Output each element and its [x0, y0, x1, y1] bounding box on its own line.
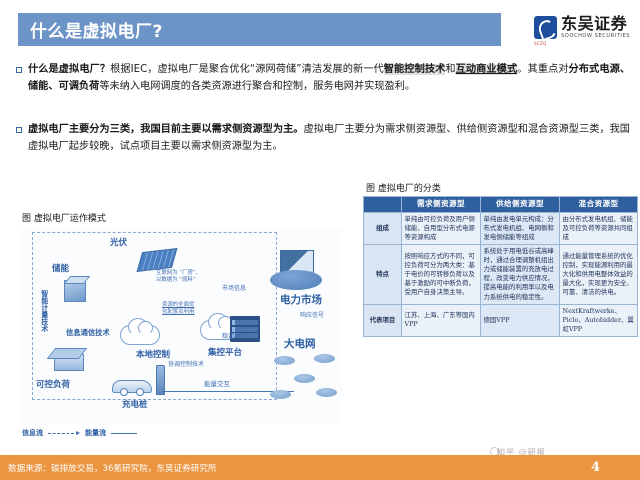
data-source-text: 数据来源：碳排放交易，36氪研究院，东吴证券研究所	[0, 462, 217, 474]
table-row: 特点 按照响应方式的不同，可控负荷可分为两大类：基于电价的可转移负荷以及基于激励…	[364, 245, 638, 305]
bullet-1-t1: 根据IEC，虚拟电厂是聚合优化	[110, 64, 250, 75]
page-title: 什么是虚拟电厂?	[18, 17, 163, 42]
label-main-grid: 大电网	[284, 336, 316, 351]
table-caption: 图 虚拟电厂的分类	[366, 181, 441, 194]
column-header-demand-side: 需求侧资源型	[402, 197, 481, 213]
cell-composition-hybrid: 由分布式发电机组、储能及可控负荷等资源共同组成	[560, 212, 638, 244]
label-local-control: 本地控制	[136, 348, 170, 360]
table-body: 组成 单纯由可控负荷及用户侧储能、自用型分布式电源等资源构成 单纯由发电单元构成…	[364, 212, 638, 336]
cell-composition-supply: 单纯由发电单元构成：分布式发电机组、电网侧和发电侧储能等组成	[481, 212, 560, 244]
label-charging-pile: 充电桩	[122, 398, 148, 410]
legend-arrow-icon	[76, 431, 80, 435]
battery-storage-icon	[64, 280, 86, 302]
legend-energy-flow-label: 能量流	[85, 428, 106, 438]
bullet-1-t5: 等未纳入电网调度的各类资源进行聚合和控制，服务电网并实现盈利。	[99, 81, 415, 92]
bullet-square-icon	[16, 127, 22, 133]
row-header-composition: 组成	[364, 212, 402, 244]
cell-features-demand: 按照响应方式的不同，可控负荷可分为两大类：基于电价的可转移负荷以及基于激励的可中…	[402, 245, 481, 305]
bullet-1-hl2: 互动商业模式	[456, 64, 518, 75]
table-header: 需求侧资源型 供给侧资源型 混合资源型	[364, 197, 638, 213]
note-internet-factory: 互联网为 “厂房”、 以数据为 “原料”	[156, 270, 201, 285]
bullet-2-text: 虚拟电厂主要分为三类，我国目前主要以需求侧资源型为主。虚拟电厂主要分为需求侧资源…	[28, 122, 630, 155]
local-control-cloud-icon	[120, 325, 160, 345]
figure-caption: 图 虚拟电厂运作模式	[22, 211, 106, 224]
logo-name-en: SOOCHOW SECURITIES	[561, 34, 630, 39]
table-row: 组成 单纯由可控负荷及用户侧储能、自用型分布式电源等资源构成 单纯由发电单元构成…	[364, 212, 638, 244]
figure-legend: 信息流 能量流	[22, 428, 137, 438]
table-row: 代表项目 江苏、上海、广东等国内VPP 德国VPP NextKraftwerke…	[364, 304, 638, 336]
column-header-supply-side: 供给侧资源型	[481, 197, 560, 213]
bullet-square-icon	[16, 67, 22, 73]
row-header-features: 特点	[364, 245, 402, 305]
row-header-projects: 代表项目	[364, 304, 402, 336]
legend-info-flow-label: 信息流	[22, 428, 43, 438]
cell-projects-hybrid: NextKraftwerke、Piclo、Autobidder、翼虹VPP	[560, 304, 638, 336]
label-solar: 光伏	[110, 236, 127, 248]
cell-projects-supply: 德国VPP	[481, 304, 560, 336]
label-ict: 信息通信技术	[66, 328, 110, 338]
bullet-1-text: 什么是虚拟电厂？根据IEC，虚拟电厂是聚合优化“源网荷储”清洁发展的新一代智能控…	[28, 62, 630, 95]
legend-dashed-line-icon	[48, 433, 74, 434]
label-power-market: 电力市场	[280, 292, 322, 307]
bullet-1-hl1: 智能控制技术	[384, 64, 446, 75]
grid-node-icon	[270, 390, 291, 399]
label-grid-response: 响应信号	[300, 312, 324, 320]
grid-node-icon	[314, 354, 335, 363]
cell-features-supply: 系统处于用电低谷或高峰时，通过合理调整机组出力或储能装置的充放电过程，改变电力供…	[481, 245, 560, 305]
logo-mark-icon: SCZQ	[534, 16, 557, 39]
header-bar: 什么是虚拟电厂?	[18, 13, 501, 46]
bullet-2-lead: 虚拟电厂主要分为三类，我国目前主要以需求侧资源型为主。	[28, 124, 304, 135]
footer-bar: 数据来源：碳排放交易，36氪研究院，东吴证券研究所 4	[0, 455, 640, 480]
legend-solid-line-icon	[111, 433, 137, 434]
label-smart-metering: 智能计量技术	[40, 290, 49, 332]
label-coordination-tech: 协调控制技术	[168, 361, 204, 369]
cell-features-hybrid: 通过能量管理系统的优化控制，实现能源利用的最大化和供用电整体效益的最大化，实现更…	[560, 245, 638, 305]
logo-subtext: SCZQ	[534, 41, 546, 46]
bullet-paragraph-2: 虚拟电厂主要分为三类，我国目前主要以需求侧资源型为主。虚拟电厂主要分为需求侧资源…	[16, 122, 630, 155]
house-load-icon	[54, 354, 84, 371]
page-number: 4	[591, 460, 640, 475]
slide-canvas: 什么是虚拟电厂? SCZQ 东吴证券 SOOCHOW SECURITIES 什么…	[0, 0, 640, 480]
vpp-operation-diagram: 光伏 储能 智能计量技术 信息通信技术 可控负荷 本地控制 互联网为 “厂房”、…	[22, 228, 342, 424]
label-market-info: 市场信息	[222, 285, 246, 293]
label-stable-output: 稳定出力	[222, 333, 246, 341]
company-logo: SCZQ 东吴证券 SOOCHOW SECURITIES	[534, 16, 630, 39]
bullet-1-t2: 清洁发展的新一代	[302, 64, 384, 75]
bullet-1-t4: 。其重点对	[517, 64, 568, 75]
label-controllable-load: 可控负荷	[36, 378, 70, 390]
bullet-paragraph-1: 什么是虚拟电厂？根据IEC，虚拟电厂是聚合优化“源网荷储”清洁发展的新一代智能控…	[16, 62, 630, 95]
table-header-row: 需求侧资源型 供给侧资源型 混合资源型	[364, 197, 638, 213]
grid-node-icon	[294, 374, 315, 383]
table-corner-cell	[364, 197, 402, 213]
logo-name-cn: 东吴证券	[561, 16, 630, 32]
grid-node-icon	[316, 388, 337, 397]
bullet-1-t3: 和	[445, 64, 455, 75]
bullet-1-q1: “源网荷储”	[250, 64, 302, 75]
note-resource-optimization: 资源的全面优 化配置及利用	[162, 302, 194, 317]
cell-composition-demand: 单纯由可控负荷及用户侧储能、自用型分布式电源等资源构成	[402, 212, 481, 244]
market-platform-disc-icon	[270, 270, 322, 290]
cell-projects-demand: 江苏、上海、广东等国内VPP	[402, 304, 481, 336]
bullet-1-lead: 什么是虚拟电厂？	[28, 64, 110, 75]
logo-text: 东吴证券 SOOCHOW SECURITIES	[561, 16, 630, 39]
grid-node-icon	[274, 356, 295, 365]
vpp-classification-table: 需求侧资源型 供给侧资源型 混合资源型 组成 单纯由可控负荷及用户侧储能、自用型…	[363, 196, 638, 337]
label-central-platform: 集控平台	[208, 346, 242, 358]
label-energy-interaction: 能量交互	[204, 380, 230, 389]
column-header-hybrid: 混合资源型	[560, 197, 638, 213]
label-storage: 储能	[52, 262, 69, 274]
electric-car-icon	[112, 380, 152, 393]
